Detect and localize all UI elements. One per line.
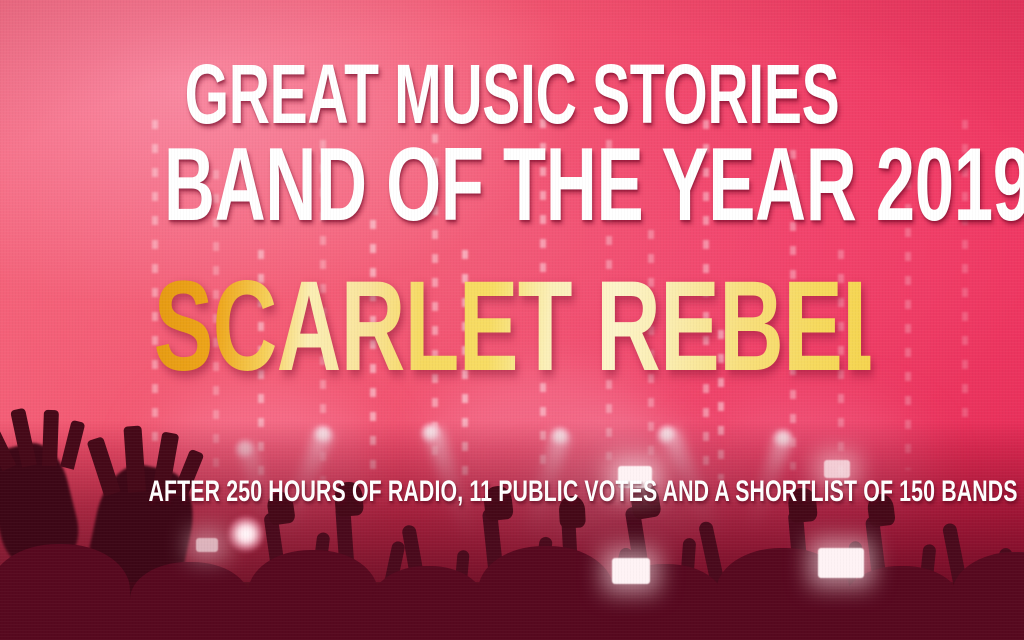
band-of-the-year-poster: GREAT MUSIC STORIES BAND OF THE YEAR 201… — [0, 0, 1024, 640]
headline-line-2: BAND OF THE YEAR 2019 — [164, 140, 860, 232]
band-name-title: SCARLET REBELS — [154, 268, 871, 386]
poster-subtitle: AFTER 250 HOURS OF RADIO, 11 PUBLIC VOTE… — [148, 477, 875, 507]
headline-line-1: GREAT MUSIC STORIES — [164, 58, 860, 132]
poster-text-layer: GREAT MUSIC STORIES BAND OF THE YEAR 201… — [0, 0, 1024, 640]
